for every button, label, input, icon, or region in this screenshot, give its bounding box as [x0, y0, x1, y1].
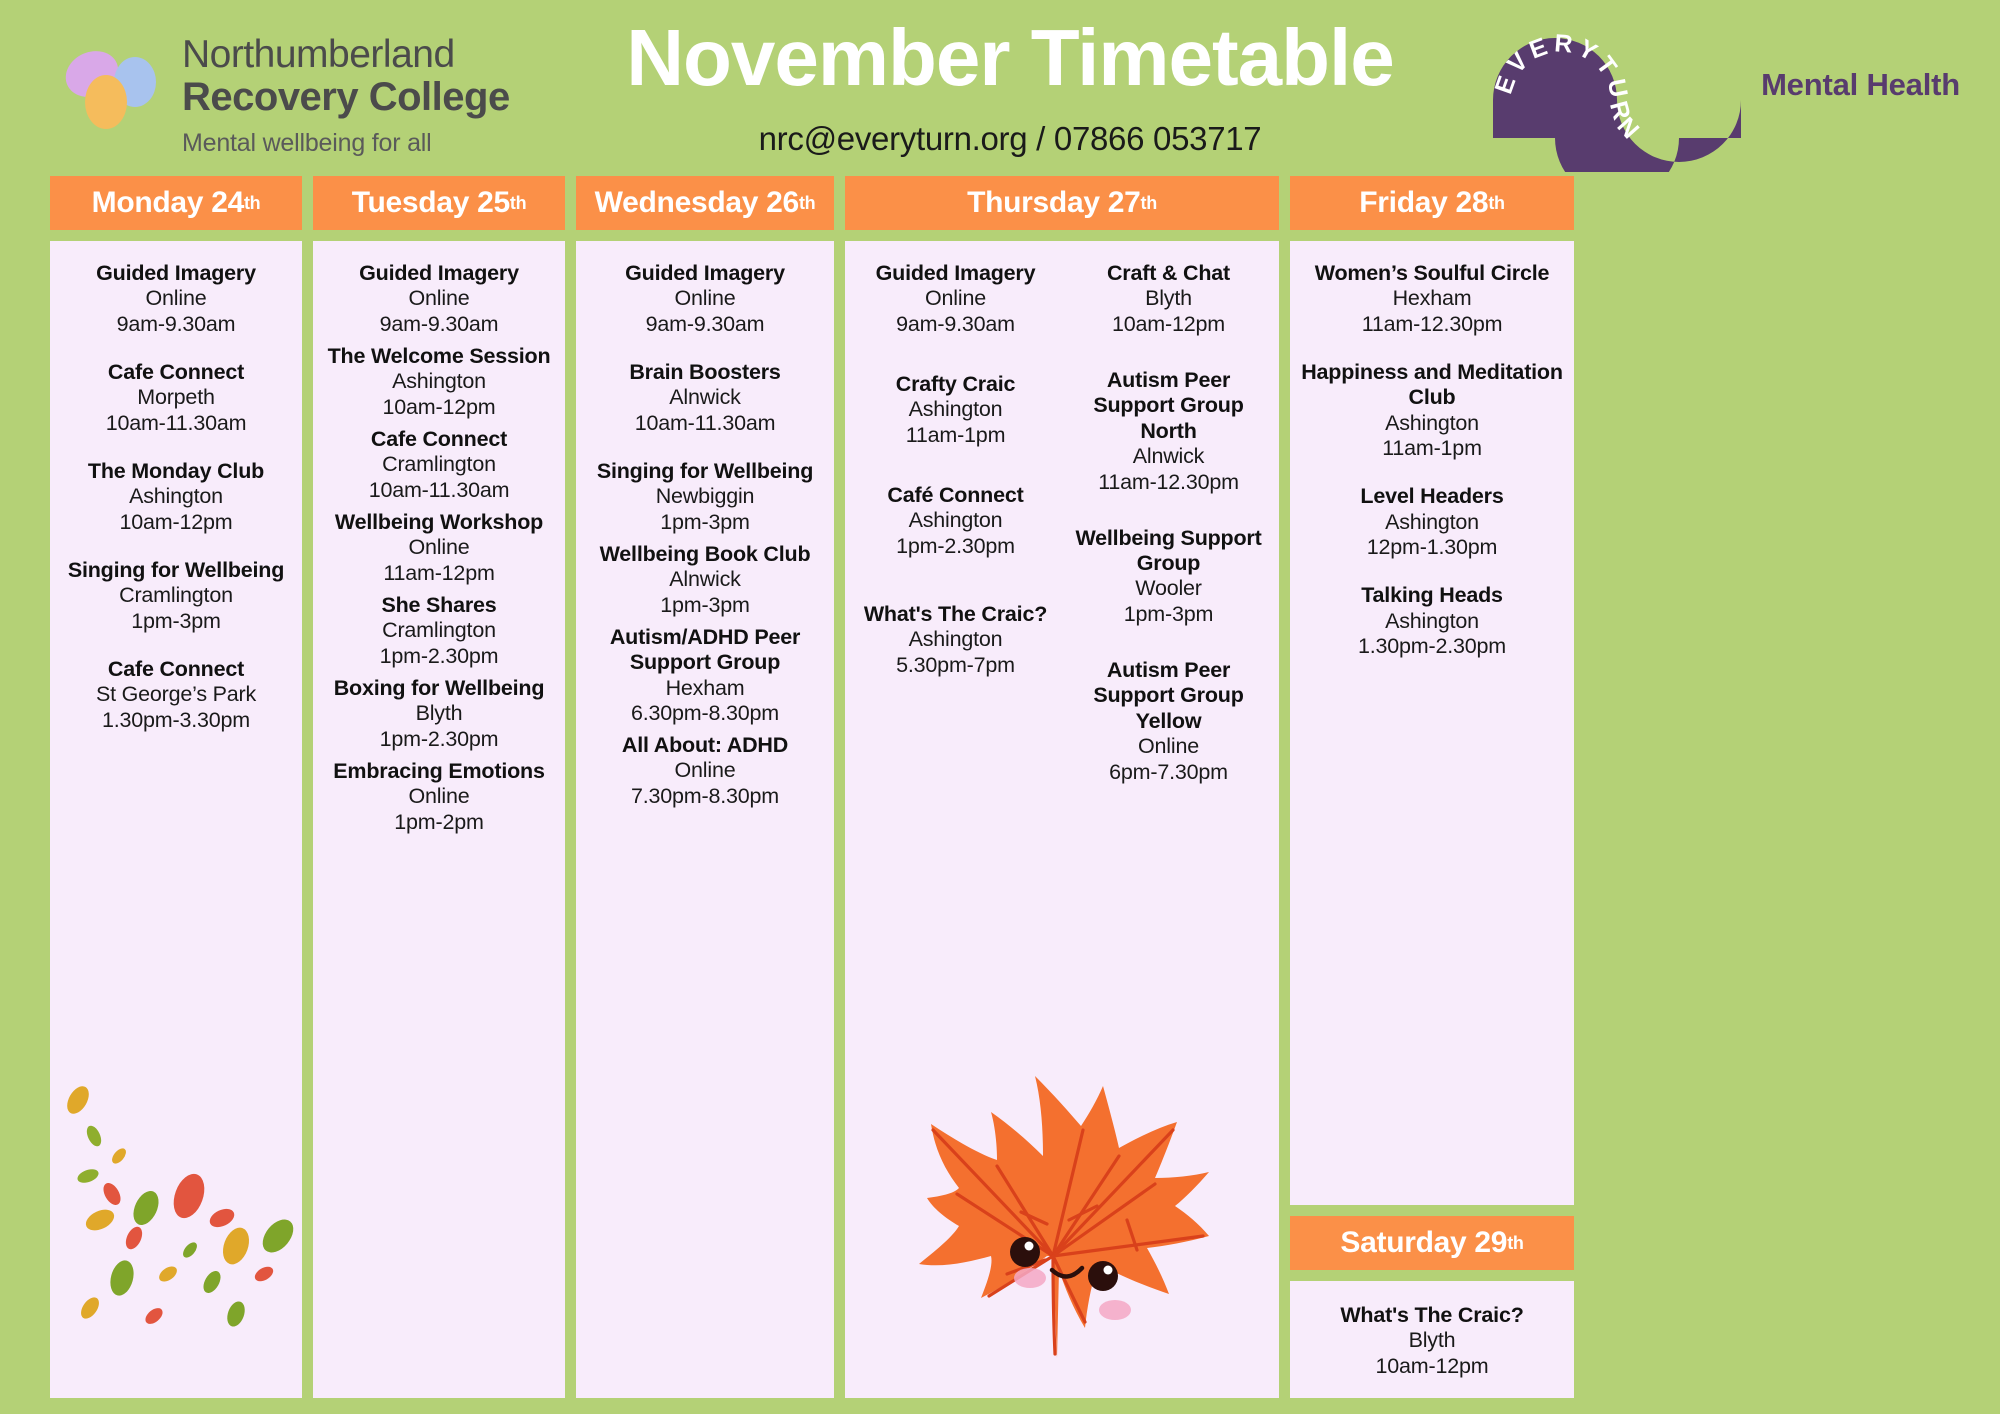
event-item[interactable]: Crafty Craic Ashington 11am-1pm	[851, 372, 1060, 449]
day-label: Monday 24	[92, 186, 244, 220]
day-label: Wednesday 26	[595, 186, 799, 220]
event-time: 11am-12.30pm	[1064, 470, 1273, 496]
event-location: Ashington	[1298, 510, 1566, 536]
event-name: Craft & Chat	[1064, 261, 1273, 286]
event-time: 11am-1pm	[851, 423, 1060, 449]
thursday-right-subcolumn: Craft & Chat Blyth 10am-12pm Autism Peer…	[1064, 261, 1273, 1388]
event-name: All About: ADHD	[584, 733, 826, 758]
event-location: Newbiggin	[584, 484, 826, 510]
event-item[interactable]: The Monday Club Ashington 10am-12pm	[58, 459, 294, 536]
butterfly-icon	[56, 40, 166, 148]
event-item[interactable]: What's The Craic? Blyth 10am-12pm	[1298, 1303, 1566, 1380]
event-time: 10am-12pm	[1064, 312, 1273, 338]
event-location: Online	[1064, 734, 1273, 760]
event-item[interactable]: Brain Boosters Alnwick 10am-11.30am	[584, 360, 826, 437]
day-ordinal: th	[244, 193, 260, 214]
event-time: 1pm-3pm	[584, 510, 826, 536]
event-name: Boxing for Wellbeing	[321, 676, 557, 701]
timetable-poster: Northumberland Recovery College Mental w…	[0, 0, 2000, 1414]
event-location: Online	[584, 286, 826, 312]
event-name: Café Connect	[851, 483, 1060, 508]
day-label: Thursday 27	[967, 186, 1140, 220]
title-block: November Timetable nrc@everyturn.org / 0…	[560, 18, 1460, 158]
event-location: Wooler	[1064, 576, 1273, 602]
event-item[interactable]: Guided Imagery Online 9am-9.30am	[58, 261, 294, 338]
event-location: Cramlington	[58, 583, 294, 609]
event-item[interactable]: Singing for Wellbeing Cramlington 1pm-3p…	[58, 558, 294, 635]
event-location: Blyth	[1064, 286, 1273, 312]
event-item[interactable]: Talking Heads Ashington 1.30pm-2.30pm	[1298, 583, 1566, 660]
event-item[interactable]: All About: ADHD Online 7.30pm-8.30pm	[584, 733, 826, 810]
event-name: Autism/ADHD Peer Support Group	[584, 625, 826, 676]
event-name: What's The Craic?	[1298, 1303, 1566, 1328]
event-location: Alnwick	[584, 567, 826, 593]
event-time: 10am-11.30am	[321, 478, 557, 504]
day-ordinal: th	[1507, 1233, 1523, 1254]
day-body-tuesday: Guided Imagery Online 9am-9.30am The Wel…	[313, 241, 565, 1398]
event-name: Guided Imagery	[584, 261, 826, 286]
day-ordinal: th	[799, 193, 815, 214]
day-header-wednesday: Wednesday 26th	[576, 176, 834, 230]
day-body-friday: Women’s Soulful Circle Hexham 11am-12.30…	[1290, 241, 1574, 1205]
event-item[interactable]: Wellbeing Workshop Online 11am-12pm	[321, 510, 557, 587]
event-name: Guided Imagery	[321, 261, 557, 286]
day-header-tuesday: Tuesday 25th	[313, 176, 565, 230]
event-name: Wellbeing Book Club	[584, 542, 826, 567]
event-name: Autism Peer Support Group North	[1064, 368, 1273, 444]
event-location: Online	[321, 784, 557, 810]
event-name: Talking Heads	[1298, 583, 1566, 608]
page-title: November Timetable	[560, 18, 1460, 98]
day-column-thursday: Thursday 27th Guided Imagery Online 9am-…	[845, 176, 1279, 1398]
event-location: Ashington	[58, 484, 294, 510]
event-name: Guided Imagery	[58, 261, 294, 286]
event-location: Blyth	[1298, 1328, 1566, 1354]
event-time: 1pm-3pm	[58, 609, 294, 635]
brand-name-line2: Recovery College	[182, 76, 510, 119]
event-item[interactable]: The Welcome Session Ashington 10am-12pm	[321, 344, 557, 421]
event-time: 1.30pm-3.30pm	[58, 708, 294, 734]
event-time: 10am-12pm	[321, 395, 557, 421]
event-location: Ashington	[851, 627, 1060, 653]
day-label: Friday 28	[1359, 186, 1488, 220]
event-location: Ashington	[321, 369, 557, 395]
event-location: Ashington	[1298, 609, 1566, 635]
event-time: 7.30pm-8.30pm	[584, 784, 826, 810]
event-name: She Shares	[321, 593, 557, 618]
event-name: Singing for Wellbeing	[584, 459, 826, 484]
event-name: Cafe Connect	[58, 657, 294, 682]
event-name: Cafe Connect	[58, 360, 294, 385]
day-header-friday: Friday 28th	[1290, 176, 1574, 230]
day-header-saturday: Saturday 29th	[1290, 1216, 1574, 1270]
event-location: Ashington	[851, 397, 1060, 423]
event-location: Cramlington	[321, 452, 557, 478]
event-item[interactable]: Embracing Emotions Online 1pm-2pm	[321, 759, 557, 836]
event-location: Morpeth	[58, 385, 294, 411]
event-location: St George’s Park	[58, 682, 294, 708]
falling-leaves-decoration	[50, 1068, 302, 1398]
event-item[interactable]: Boxing for Wellbeing Blyth 1pm-2.30pm	[321, 676, 557, 753]
event-time: 1pm-2.30pm	[321, 727, 557, 753]
event-time: 11am-12pm	[321, 561, 557, 587]
event-location: Online	[321, 535, 557, 561]
event-item[interactable]: Happiness and Meditation Club Ashington …	[1298, 360, 1566, 462]
event-location: Ashington	[851, 508, 1060, 534]
day-header-thursday: Thursday 27th	[845, 176, 1279, 230]
event-item[interactable]: Café Connect Ashington 1pm-2.30pm	[851, 483, 1060, 560]
event-location: Alnwick	[1064, 444, 1273, 470]
thursday-left-subcolumn: Guided Imagery Online 9am-9.30am Crafty …	[851, 261, 1060, 1388]
event-item[interactable]: What's The Craic? Ashington 5.30pm-7pm	[851, 602, 1060, 679]
event-name: Happiness and Meditation Club	[1298, 360, 1566, 411]
event-item[interactable]: Cafe Connect Cramlington 10am-11.30am	[321, 427, 557, 504]
event-location: Hexham	[1298, 286, 1566, 312]
everyturn-swirl-icon: EVERYTURN	[1489, 24, 1757, 172]
day-body-saturday: What's The Craic? Blyth 10am-12pm	[1290, 1281, 1574, 1398]
event-time: 12pm-1.30pm	[1298, 535, 1566, 561]
event-location: Online	[58, 286, 294, 312]
everyturn-logo: EVERYTURN Mental Health	[1489, 24, 1960, 172]
event-name: The Monday Club	[58, 459, 294, 484]
event-name: Women’s Soulful Circle	[1298, 261, 1566, 286]
event-time: 1pm-2.30pm	[321, 644, 557, 670]
event-item[interactable]: Craft & Chat Blyth 10am-12pm	[1064, 261, 1273, 338]
event-name: Level Headers	[1298, 484, 1566, 509]
day-body-wednesday: Guided Imagery Online 9am-9.30am Brain B…	[576, 241, 834, 1398]
event-item[interactable]: Women’s Soulful Circle Hexham 11am-12.30…	[1298, 261, 1566, 338]
day-body-thursday: Guided Imagery Online 9am-9.30am Crafty …	[845, 241, 1279, 1398]
event-name: The Welcome Session	[321, 344, 557, 369]
event-item[interactable]: Wellbeing Support Group Wooler 1pm-3pm	[1064, 526, 1273, 628]
timetable-grid: Monday 24th Guided Imagery Online 9am-9.…	[50, 176, 1972, 1398]
event-name: Wellbeing Support Group	[1064, 526, 1273, 577]
event-time: 5.30pm-7pm	[851, 653, 1060, 679]
event-time: 1.30pm-2.30pm	[1298, 634, 1566, 660]
brand-tagline: Mental wellbeing for all	[182, 129, 510, 158]
event-time: 1pm-2pm	[321, 810, 557, 836]
event-location: Online	[584, 758, 826, 784]
event-time: 9am-9.30am	[851, 312, 1060, 338]
event-time: 9am-9.30am	[584, 312, 826, 338]
event-name: What's The Craic?	[851, 602, 1060, 627]
day-column-friday: Friday 28th Women’s Soulful Circle Hexha…	[1290, 176, 1574, 1398]
event-item[interactable]: Autism Peer Support Group North Alnwick …	[1064, 368, 1273, 496]
day-ordinal: th	[510, 193, 526, 214]
day-column-tuesday: Tuesday 25th Guided Imagery Online 9am-9…	[313, 176, 565, 1398]
recovery-college-logo: Northumberland Recovery College Mental w…	[56, 30, 510, 158]
event-item[interactable]: Cafe Connect St George’s Park 1.30pm-3.3…	[58, 657, 294, 734]
event-item[interactable]: Autism Peer Support Group Yellow Online …	[1064, 658, 1273, 786]
event-time: 11am-12.30pm	[1298, 312, 1566, 338]
event-location: Online	[851, 286, 1060, 312]
event-time: 6pm-7.30pm	[1064, 760, 1273, 786]
event-item[interactable]: Singing for Wellbeing Newbiggin 1pm-3pm	[584, 459, 826, 536]
event-name: Singing for Wellbeing	[58, 558, 294, 583]
event-name: Guided Imagery	[851, 261, 1060, 286]
day-label: Saturday 29	[1340, 1226, 1507, 1260]
event-time: 10am-12pm	[1298, 1354, 1566, 1380]
event-time: 10am-11.30am	[584, 411, 826, 437]
brand-name-line1: Northumberland	[182, 34, 510, 76]
event-location: Hexham	[584, 676, 826, 702]
event-item[interactable]: She Shares Cramlington 1pm-2.30pm	[321, 593, 557, 670]
contact-info: nrc@everyturn.org / 07866 053717	[560, 120, 1460, 158]
event-time: 1pm-2.30pm	[851, 534, 1060, 560]
event-time: 9am-9.30am	[321, 312, 557, 338]
event-time: 1pm-3pm	[584, 593, 826, 619]
event-time: 10am-11.30am	[58, 411, 294, 437]
event-name: Crafty Craic	[851, 372, 1060, 397]
day-body-monday: Guided Imagery Online 9am-9.30am Cafe Co…	[50, 241, 302, 1398]
day-header-monday: Monday 24th	[50, 176, 302, 230]
day-column-monday: Monday 24th Guided Imagery Online 9am-9.…	[50, 176, 302, 1398]
event-time: 11am-1pm	[1298, 436, 1566, 462]
event-item[interactable]: Level Headers Ashington 12pm-1.30pm	[1298, 484, 1566, 561]
event-item[interactable]: Autism/ADHD Peer Support Group Hexham 6.…	[584, 625, 826, 727]
everyturn-label: Mental Health	[1761, 67, 1960, 103]
event-time: 1pm-3pm	[1064, 602, 1273, 628]
event-location: Alnwick	[584, 385, 826, 411]
event-location: Blyth	[321, 701, 557, 727]
event-name: Cafe Connect	[321, 427, 557, 452]
event-name: Autism Peer Support Group Yellow	[1064, 658, 1273, 734]
event-time: 10am-12pm	[58, 510, 294, 536]
day-column-wednesday: Wednesday 26th Guided Imagery Online 9am…	[576, 176, 834, 1398]
day-ordinal: th	[1488, 193, 1504, 214]
event-item[interactable]: Guided Imagery Online 9am-9.30am	[321, 261, 557, 338]
day-ordinal: th	[1141, 193, 1157, 214]
event-item[interactable]: Guided Imagery Online 9am-9.30am	[584, 261, 826, 338]
event-name: Embracing Emotions	[321, 759, 557, 784]
event-location: Online	[321, 286, 557, 312]
event-location: Ashington	[1298, 411, 1566, 437]
event-item[interactable]: Guided Imagery Online 9am-9.30am	[851, 261, 1060, 338]
event-time: 9am-9.30am	[58, 312, 294, 338]
event-name: Wellbeing Workshop	[321, 510, 557, 535]
event-item[interactable]: Cafe Connect Morpeth 10am-11.30am	[58, 360, 294, 437]
day-label: Tuesday 25	[352, 186, 510, 220]
event-time: 6.30pm-8.30pm	[584, 701, 826, 727]
event-item[interactable]: Wellbeing Book Club Alnwick 1pm-3pm	[584, 542, 826, 619]
event-name: Brain Boosters	[584, 360, 826, 385]
event-location: Cramlington	[321, 618, 557, 644]
